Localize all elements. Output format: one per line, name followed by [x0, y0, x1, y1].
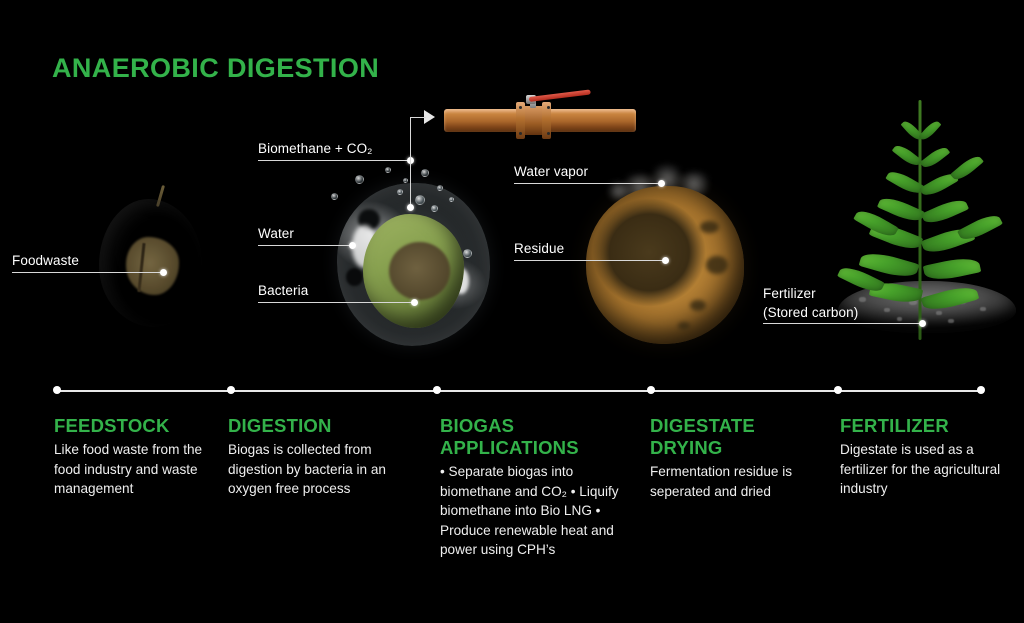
gas-bubble-icon [437, 185, 443, 191]
leader-dot-water [349, 242, 356, 249]
stage-heading-biogas-applications: BIOGAS APPLICATIONS [440, 415, 630, 459]
leader-line-water-vapor [514, 183, 662, 184]
stage-column-biogas-applications: BIOGAS APPLICATIONS • Separate biogas in… [440, 415, 630, 560]
callout-fertilizer: Fertilizer (Stored carbon) [763, 284, 858, 322]
illustration-stage: Foodwaste Biomethane + CO₂ Water Bacteri… [0, 0, 1024, 375]
leader-line-water [258, 245, 354, 246]
stage-body-digestion: Biogas is collected from digestion by ba… [228, 440, 418, 499]
digestate-blotch [690, 300, 706, 311]
stage-body-fertilizer: Digestate is used as a fertilizer for th… [840, 440, 1005, 499]
leader-line-fertilizer [763, 323, 923, 324]
stage-heading-line1: DIGESTATE [650, 415, 755, 436]
valve-handle[interactable] [529, 89, 591, 102]
digestate-blotch [700, 221, 719, 234]
gas-bubble-icon [463, 249, 472, 258]
callout-residue: Residue [514, 240, 564, 257]
gas-bubble-icon [449, 197, 454, 202]
stage-body-feedstock: Like food waste from the food industry a… [54, 440, 214, 499]
gas-bubble-icon [431, 205, 438, 212]
callout-foodwaste: Foodwaste [12, 252, 79, 269]
callout-fertilizer-line1: Fertilizer [763, 284, 858, 303]
callout-water-vapor: Water vapor [514, 163, 588, 180]
callout-fertilizer-line2: (Stored carbon) [763, 303, 858, 322]
leaf-icon [920, 144, 950, 171]
digestate-residue-image [586, 186, 744, 344]
digesting-foodwaste-core [389, 242, 450, 301]
stage-column-fertilizer: FERTILIZER Digestate is used as a fertil… [840, 415, 1005, 499]
leader-line-biomethane [258, 160, 413, 161]
stage-heading-feedstock: FEEDSTOCK [54, 415, 214, 437]
biomethane-pipe-valve-image [444, 98, 636, 140]
callout-bacteria: Bacteria [258, 282, 308, 299]
gas-bubble-icon [421, 169, 429, 177]
stage-heading-fertilizer: FERTILIZER [840, 415, 1005, 437]
gas-bubble-icon [331, 193, 338, 200]
timeline-dot-2[interactable] [433, 386, 441, 394]
leader-dot-bacteria [411, 299, 418, 306]
leaf-icon [921, 283, 980, 315]
timeline-track [56, 390, 981, 392]
callout-biomethane: Biomethane + CO₂ [258, 140, 373, 157]
leader-dot-water-vapor [658, 180, 665, 187]
timeline-dot-5[interactable] [977, 386, 985, 394]
leaf-icon [921, 195, 969, 227]
stage-heading-line2: DRYING [650, 437, 722, 458]
stage-column-digestate-drying: DIGESTATE DRYING Fermentation residue is… [650, 415, 825, 501]
leaf-icon [950, 152, 984, 183]
stage-column-feedstock: FEEDSTOCK Like food waste from the food … [54, 415, 214, 499]
leader-drop-biomethane [410, 160, 411, 208]
timeline-dot-4[interactable] [834, 386, 842, 394]
leaf-icon [923, 254, 982, 283]
leader-line-bacteria [258, 302, 415, 303]
foodwaste-apple-image [99, 199, 202, 327]
timeline-dot-3[interactable] [647, 386, 655, 394]
valve-body [524, 106, 544, 135]
timeline-dot-1[interactable] [227, 386, 235, 394]
gas-bubble-icon [385, 167, 391, 173]
stage-body-digestate-drying: Fermentation residue is seperated and dr… [650, 462, 825, 501]
stage-heading-digestate-drying: DIGESTATE DRYING [650, 415, 825, 459]
gas-bubble-icon [397, 189, 403, 195]
stage-heading-line1: BIOGAS [440, 415, 514, 436]
leader-dot-residue [662, 257, 669, 264]
leader-dot-foodwaste [160, 269, 167, 276]
leader-dot-bubble-top [407, 204, 414, 211]
stage-body-biogas-applications: • Separate biogas into biomethane and CO… [440, 462, 630, 560]
digestate-blotch [678, 322, 691, 330]
gas-bubble-icon [415, 195, 425, 205]
bubble-dark-spot [346, 268, 363, 286]
stage-heading-digestion: DIGESTION [228, 415, 418, 437]
process-timeline [0, 383, 1024, 399]
stage-column-digestion: DIGESTION Biogas is collected from diges… [228, 415, 418, 499]
leader-line-residue [514, 260, 666, 261]
callout-water: Water [258, 225, 294, 242]
timeline-dot-0[interactable] [53, 386, 61, 394]
gas-bubble-icon [403, 178, 408, 183]
gas-bubble-icon [355, 175, 364, 184]
leader-dot-fertilizer [919, 320, 926, 327]
leader-riser-biomethane [410, 117, 411, 160]
stage-heading-line2: APPLICATIONS [440, 437, 579, 458]
leader-to-arrow [410, 117, 426, 118]
leaf-icon [919, 119, 942, 143]
apple-core [126, 237, 180, 295]
leader-line-foodwaste [12, 272, 164, 273]
